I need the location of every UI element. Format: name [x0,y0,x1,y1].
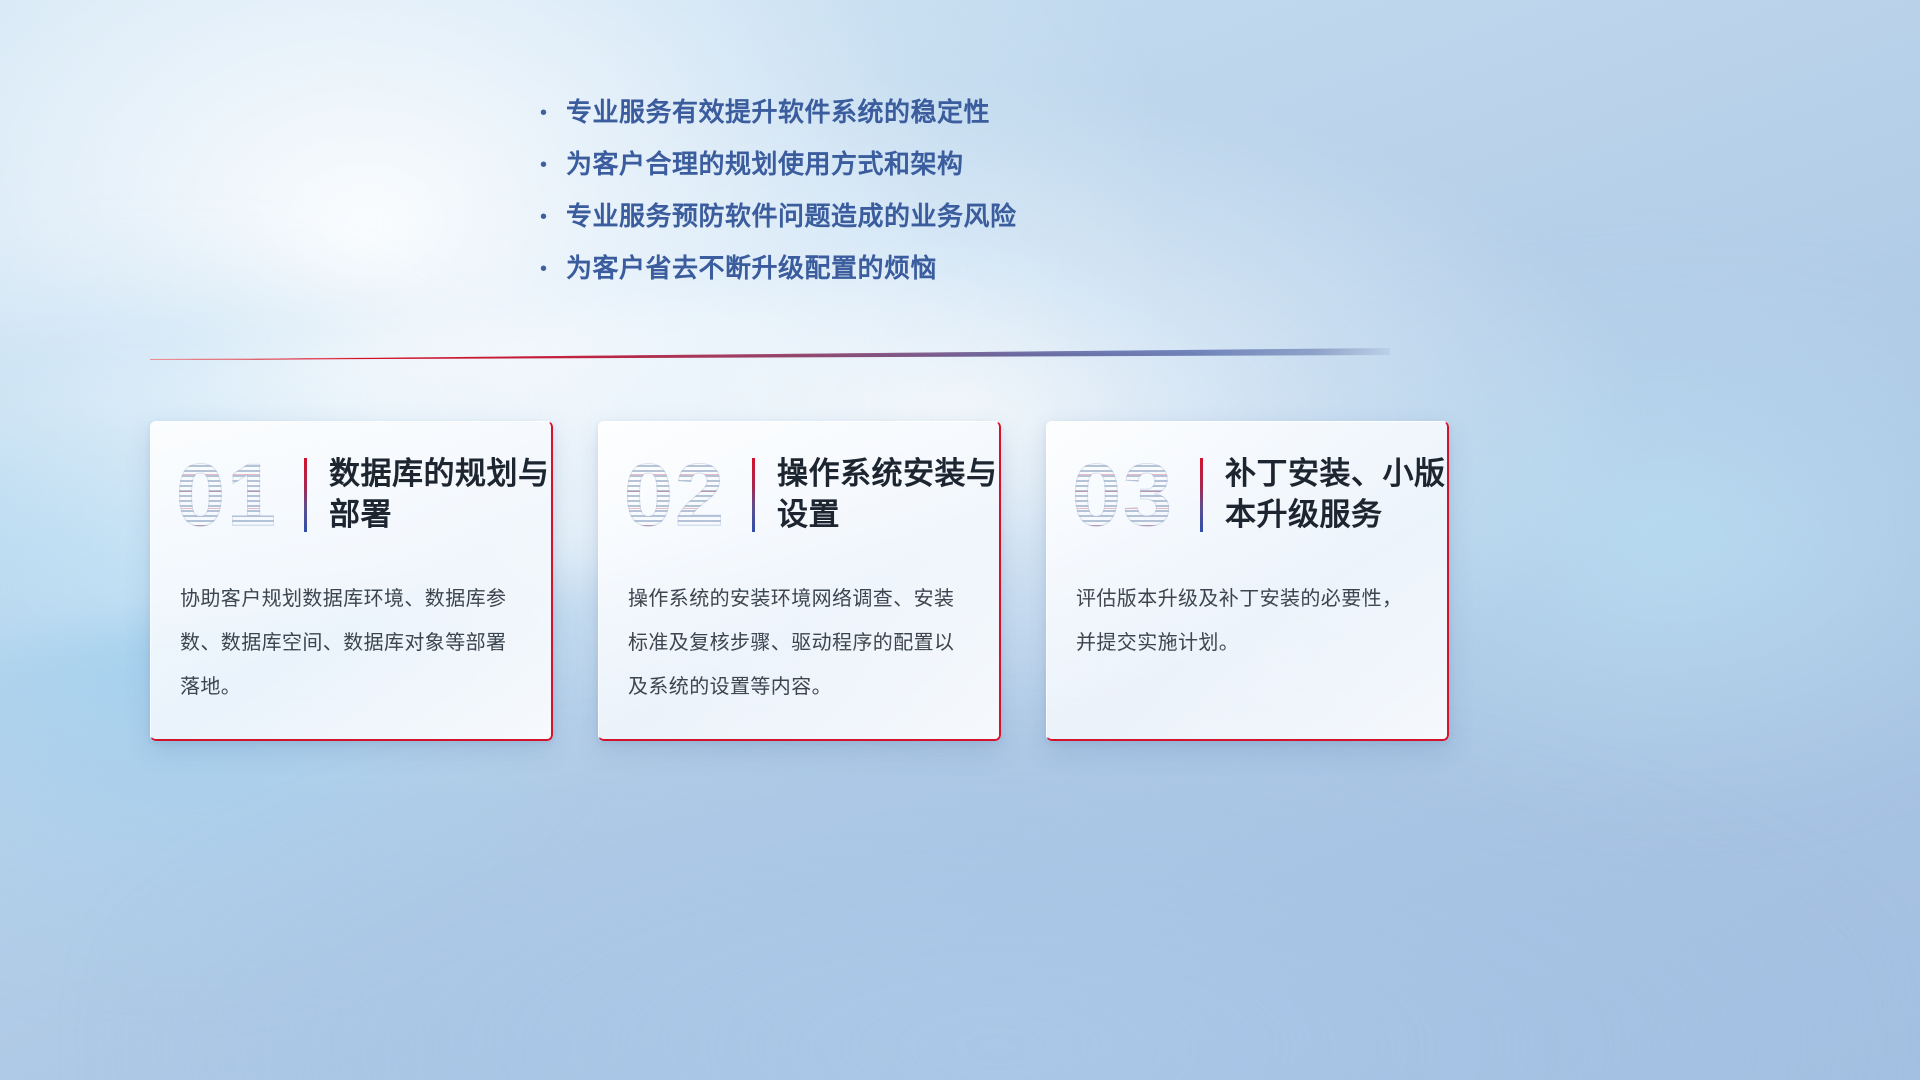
card-description: 协助客户规划数据库环境、数据库参数、数据库空间、数据库对象等部署落地。 [150,569,553,709]
card-title: 补丁安装、小版本升级服务 [1225,454,1449,536]
card-number-wrap: 01 01 [176,440,298,550]
benefits-bullet-list: • 专业服务有效提升软件系统的稳定性 • 为客户合理的规划使用方式和架构 • 专… [540,92,1360,300]
card-title: 操作系统安装与设置 [777,454,1001,536]
bullet-item-label: 专业服务预防软件问题造成的业务风险 [566,196,1017,233]
bullet-item-label: 为客户省去不断升级配置的烦恼 [566,248,937,285]
card-number-wrap: 02 02 [624,440,746,550]
bullet-item-label: 为客户合理的规划使用方式和架构 [566,144,964,181]
card-number-outline: 02 [624,440,746,550]
card-title: 数据库的规划与部署 [329,454,553,536]
card-accent-bar [304,458,307,532]
service-card-row: 01 01 数据库的规划与部署 协助客户规划数据库环境、数据库参数、数据库空间、… [150,421,1450,741]
bullet-dot-icon: • [540,155,566,175]
list-item: • 为客户合理的规划使用方式和架构 [540,144,1360,196]
slide-canvas: • 专业服务有效提升软件系统的稳定性 • 为客户合理的规划使用方式和架构 • 专… [0,0,1920,1080]
service-card[interactable]: 01 01 数据库的规划与部署 协助客户规划数据库环境、数据库参数、数据库空间、… [150,421,553,741]
card-accent-bar [1200,458,1203,532]
background-glow-bottom [115,734,1881,1080]
card-number-wrap: 03 03 [1072,440,1194,550]
bullet-item-label: 专业服务有效提升软件系统的稳定性 [566,92,990,129]
card-description: 评估版本升级及补丁安装的必要性，并提交实施计划。 [1046,569,1449,665]
service-card[interactable]: 02 02 操作系统安装与设置 操作系统的安装环境网络调查、安装标准及复核步骤、… [598,421,1001,741]
bullet-dot-icon: • [540,259,566,279]
card-accent-bar [752,458,755,532]
card-header: 03 03 补丁安装、小版本升级服务 [1046,421,1449,569]
section-divider [150,348,1390,360]
card-header: 01 01 数据库的规划与部署 [150,421,553,569]
card-number-outline: 01 [176,440,298,550]
list-item: • 为客户省去不断升级配置的烦恼 [540,248,1360,300]
card-description: 操作系统的安装环境网络调查、安装标准及复核步骤、驱动程序的配置以及系统的设置等内… [598,569,1001,709]
card-header: 02 02 操作系统安装与设置 [598,421,1001,569]
card-number-outline: 03 [1072,440,1194,550]
bullet-dot-icon: • [540,207,566,227]
list-item: • 专业服务预防软件问题造成的业务风险 [540,196,1360,248]
service-card[interactable]: 03 03 补丁安装、小版本升级服务 评估版本升级及补丁安装的必要性，并提交实施… [1046,421,1449,741]
list-item: • 专业服务有效提升软件系统的稳定性 [540,92,1360,144]
bullet-dot-icon: • [540,103,566,123]
